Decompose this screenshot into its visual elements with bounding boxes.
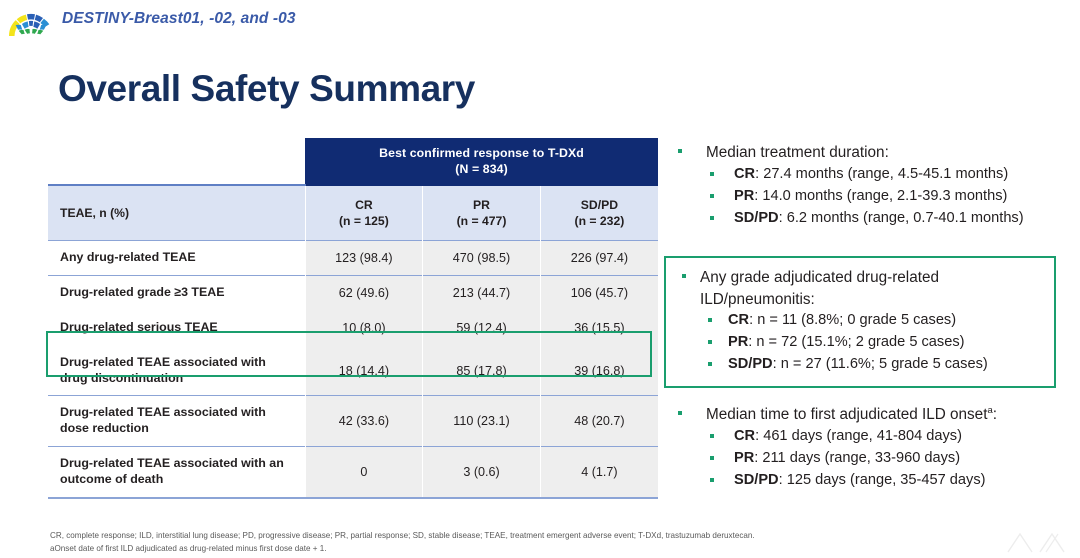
study-name-label: DESTINY-Breast01, -02, and -03 — [62, 10, 296, 28]
median-treatment-duration-block: Median treatment duration: CR: 27.4 mont… — [672, 142, 1072, 229]
bullet-square-icon — [710, 456, 714, 460]
row-value-pr: 3 (0.6) — [423, 447, 541, 498]
column-header-cr-name: CR — [306, 197, 423, 213]
best-response-header-n: (N = 834) — [305, 161, 658, 177]
best-response-header-title: Best confirmed response to T-DXd — [305, 145, 658, 161]
header-blank-cell — [48, 138, 305, 185]
ild-item-sdpd-text: : n = 27 (11.6%; 5 grade 5 cases) — [773, 356, 988, 372]
onset-item-pr-text: : 211 days (range, 33-960 days) — [754, 450, 960, 466]
bullet-square-icon — [710, 172, 714, 176]
duration-heading-text: Median treatment duration: — [706, 144, 889, 161]
bullet-square-icon — [708, 318, 712, 322]
onset-item-pr: PR: 211 days (range, 33-960 days) — [672, 448, 1072, 470]
duration-item-pr: PR: 14.0 months (range, 2.1-39.3 months) — [672, 186, 1072, 208]
bullet-square-icon — [682, 274, 686, 278]
fan-arc-logo — [8, 4, 54, 40]
bullet-square-icon — [678, 149, 682, 153]
row-value-pr: 59 (12.4) — [423, 310, 541, 345]
column-header-sdpd-name: SD/PD — [541, 197, 658, 213]
table-row: Drug-related grade ≥3 TEAE 62 (49.6) 213… — [48, 275, 658, 310]
bullet-square-icon — [708, 362, 712, 366]
duration-item-sdpd: SD/PD: 6.2 months (range, 0.7-40.1 month… — [672, 208, 1072, 230]
column-header-sdpd-n: (n = 232) — [541, 213, 658, 229]
table-row: Any drug-related TEAE 123 (98.4) 470 (98… — [48, 241, 658, 276]
table-row: Drug-related TEAE associated with drug d… — [48, 345, 658, 396]
row-value-cr: 123 (98.4) — [305, 241, 423, 276]
onset-heading-text: Median time to first adjudicated ILD ons… — [706, 406, 987, 423]
ild-item-pr-text: : n = 72 (15.1%; 2 grade 5 cases) — [748, 334, 964, 350]
onset-item-sdpd-text: : 125 days (range, 35-457 days) — [779, 472, 986, 488]
ild-item-pr-label: PR — [728, 334, 748, 350]
row-value-sdpd: 48 (20.7) — [540, 396, 658, 447]
onset-heading: Median time to first adjudicated ILD ons… — [672, 404, 1072, 426]
row-value-sdpd: 106 (45.7) — [540, 275, 658, 310]
duration-item-sdpd-label: SD/PD — [734, 210, 779, 226]
onset-item-cr: CR: 461 days (range, 41-804 days) — [672, 426, 1072, 448]
duration-item-pr-label: PR — [734, 188, 754, 204]
table-row-highlighted: Drug-related serious TEAE 10 (8.0) 59 (1… — [48, 310, 658, 345]
duration-item-cr-label: CR — [734, 166, 755, 182]
footnote-abbreviations: CR, complete response; ILD, interstitial… — [50, 530, 1050, 543]
row-value-pr: 110 (23.1) — [423, 396, 541, 447]
duration-item-cr: CR: 27.4 months (range, 4.5-45.1 months) — [672, 164, 1072, 186]
row-value-sdpd: 226 (97.4) — [540, 241, 658, 276]
ild-item-cr: CR: n = 11 (8.8%; 0 grade 5 cases) — [674, 310, 1046, 332]
teae-label-header: TEAE, n (%) — [48, 185, 305, 241]
bullet-square-icon — [710, 478, 714, 482]
row-label: Drug-related grade ≥3 TEAE — [48, 275, 305, 310]
row-label: Drug-related serious TEAE — [48, 310, 305, 345]
row-value-cr: 62 (49.6) — [305, 275, 423, 310]
ild-heading: Any grade adjudicated drug-related ILD/p… — [674, 267, 1046, 310]
median-ild-onset-block: Median time to first adjudicated ILD ons… — [672, 404, 1072, 491]
bullet-square-icon — [678, 411, 682, 415]
row-value-sdpd: 39 (16.8) — [540, 345, 658, 396]
table-column-header-row: TEAE, n (%) CR (n = 125) PR (n = 477) SD… — [48, 185, 658, 241]
footnotes: CR, complete response; ILD, interstitial… — [50, 530, 1050, 555]
bullet-square-icon — [710, 194, 714, 198]
table-row: Drug-related TEAE associated with an out… — [48, 447, 658, 498]
onset-item-cr-text: : 461 days (range, 41-804 days) — [755, 428, 962, 444]
bullet-square-icon — [710, 216, 714, 220]
duration-item-cr-text: : 27.4 months (range, 4.5-45.1 months) — [755, 166, 1008, 182]
onset-item-cr-label: CR — [734, 428, 755, 444]
column-header-cr-n: (n = 125) — [306, 213, 423, 229]
row-value-pr: 213 (44.7) — [423, 275, 541, 310]
duration-item-pr-text: : 14.0 months (range, 2.1-39.3 months) — [754, 188, 1007, 204]
ild-pneumonitis-highlight-box: Any grade adjudicated drug-related ILD/p… — [664, 256, 1056, 388]
row-label: Any drug-related TEAE — [48, 241, 305, 276]
ild-item-pr: PR: n = 72 (15.1%; 2 grade 5 cases) — [674, 332, 1046, 354]
row-value-pr: 470 (98.5) — [423, 241, 541, 276]
safety-summary-table: Best confirmed response to T-DXd (N = 83… — [48, 138, 658, 499]
column-header-pr-name: PR — [423, 197, 540, 213]
column-header-pr-n: (n = 477) — [423, 213, 540, 229]
onset-item-sdpd-label: SD/PD — [734, 472, 779, 488]
row-value-sdpd: 4 (1.7) — [540, 447, 658, 498]
row-value-cr: 42 (33.6) — [305, 396, 423, 447]
row-value-sdpd: 36 (15.5) — [540, 310, 658, 345]
footnote-a: aOnset date of first ILD adjudicated as … — [50, 543, 1050, 556]
onset-item-sdpd: SD/PD: 125 days (range, 35-457 days) — [672, 470, 1072, 492]
bullet-square-icon — [710, 434, 714, 438]
header-bar: DESTINY-Breast01, -02, and -03 — [0, 0, 1080, 44]
column-header-sdpd: SD/PD (n = 232) — [540, 185, 658, 241]
bullet-square-icon — [708, 340, 712, 344]
page-title: Overall Safety Summary — [58, 68, 475, 110]
ild-item-sdpd-label: SD/PD — [728, 356, 773, 372]
ild-item-cr-label: CR — [728, 312, 749, 328]
table-row: Drug-related TEAE associated with dose r… — [48, 396, 658, 447]
row-value-cr: 10 (8.0) — [305, 310, 423, 345]
corner-decoration — [1002, 528, 1072, 554]
table-span-header-row: Best confirmed response to T-DXd (N = 83… — [48, 138, 658, 185]
ild-item-sdpd: SD/PD: n = 27 (11.6%; 5 grade 5 cases) — [674, 354, 1046, 376]
row-label: Drug-related TEAE associated with drug d… — [48, 345, 305, 396]
column-header-pr: PR (n = 477) — [423, 185, 541, 241]
row-label: Drug-related TEAE associated with dose r… — [48, 396, 305, 447]
best-response-header: Best confirmed response to T-DXd (N = 83… — [305, 138, 658, 185]
onset-item-pr-label: PR — [734, 450, 754, 466]
row-value-pr: 85 (17.8) — [423, 345, 541, 396]
duration-heading: Median treatment duration: — [672, 142, 1072, 164]
onset-heading-suffix: : — [993, 406, 997, 423]
ild-heading-text: Any grade adjudicated drug-related ILD/p… — [700, 269, 939, 308]
row-value-cr: 0 — [305, 447, 423, 498]
ild-item-cr-text: : n = 11 (8.8%; 0 grade 5 cases) — [749, 312, 956, 328]
row-label: Drug-related TEAE associated with an out… — [48, 447, 305, 498]
column-header-cr: CR (n = 125) — [305, 185, 423, 241]
duration-item-sdpd-text: : 6.2 months (range, 0.7-40.1 months) — [779, 210, 1024, 226]
row-value-cr: 18 (14.4) — [305, 345, 423, 396]
